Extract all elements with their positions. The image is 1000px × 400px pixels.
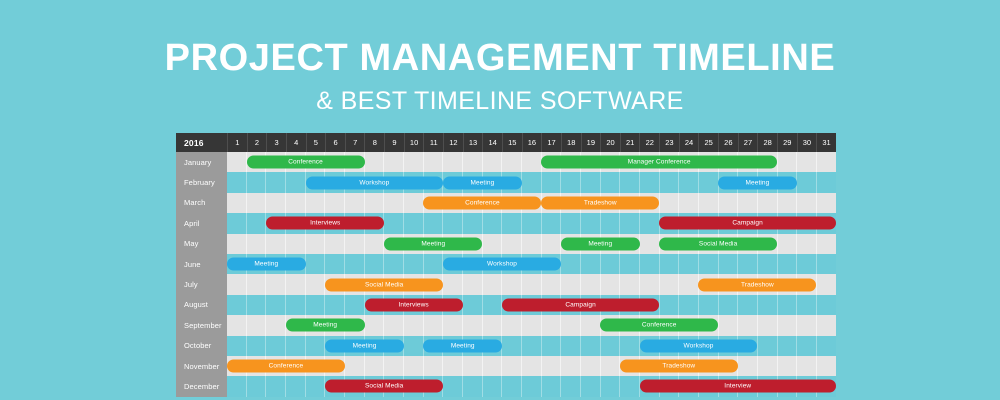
gantt-day-cell[interactable] bbox=[227, 213, 246, 233]
timeline-infographic: PROJECT MANAGEMENT TIMELINE & BEST TIMEL… bbox=[0, 0, 1000, 400]
gantt-day-cell[interactable] bbox=[383, 356, 403, 376]
gantt-day-cell[interactable] bbox=[521, 315, 541, 335]
gantt-day-cell[interactable] bbox=[777, 315, 797, 335]
gantt-bar[interactable]: Meeting bbox=[286, 319, 365, 332]
gantt-day-cell[interactable] bbox=[698, 193, 718, 213]
gantt-day-cell[interactable] bbox=[796, 336, 816, 356]
gantt-day-cell[interactable] bbox=[796, 254, 816, 274]
gantt-day-cell[interactable] bbox=[285, 193, 305, 213]
gantt-bar[interactable]: Conference bbox=[600, 319, 718, 332]
gantt-bar[interactable]: Meeting bbox=[325, 339, 404, 352]
month-label[interactable]: August bbox=[176, 295, 227, 315]
gantt-day-cell[interactable] bbox=[600, 172, 620, 192]
day-header-cell[interactable]: 11 bbox=[423, 133, 443, 152]
gantt-day-cell[interactable] bbox=[757, 193, 777, 213]
gantt-day-cell[interactable] bbox=[403, 336, 423, 356]
gantt-day-cell[interactable] bbox=[227, 234, 246, 254]
gantt-day-cell[interactable] bbox=[521, 172, 541, 192]
month-label[interactable]: October bbox=[176, 336, 227, 356]
gantt-day-cell[interactable] bbox=[580, 336, 600, 356]
month-label[interactable]: January bbox=[176, 152, 227, 172]
gantt-bar[interactable]: Meeting bbox=[384, 237, 482, 250]
gantt-day-cell[interactable] bbox=[423, 356, 443, 376]
gantt-day-cell[interactable] bbox=[757, 254, 777, 274]
gantt-day-cell[interactable] bbox=[678, 254, 698, 274]
gantt-day-cell[interactable] bbox=[737, 315, 757, 335]
gantt-day-cell[interactable] bbox=[364, 152, 384, 172]
gantt-day-cell[interactable] bbox=[246, 336, 266, 356]
month-label[interactable]: July bbox=[176, 274, 227, 294]
day-header-cell[interactable]: 30 bbox=[797, 133, 817, 152]
gantt-day-cell[interactable] bbox=[246, 213, 266, 233]
month-label[interactable]: April bbox=[176, 213, 227, 233]
gantt-bar[interactable]: Workshop bbox=[640, 339, 758, 352]
gantt-day-cell[interactable] bbox=[246, 172, 266, 192]
gantt-day-cell[interactable] bbox=[796, 172, 816, 192]
gantt-day-cell[interactable] bbox=[324, 193, 344, 213]
gantt-day-cell[interactable] bbox=[560, 356, 580, 376]
gantt-day-cell[interactable] bbox=[678, 172, 698, 192]
gantt-day-cell[interactable] bbox=[482, 234, 502, 254]
gantt-day-cell[interactable] bbox=[246, 376, 266, 396]
month-label[interactable]: June bbox=[176, 254, 227, 274]
gantt-day-cell[interactable] bbox=[285, 376, 305, 396]
gantt-day-cell[interactable] bbox=[639, 213, 659, 233]
day-header-cell[interactable]: 1 bbox=[227, 133, 247, 152]
gantt-day-cell[interactable] bbox=[796, 234, 816, 254]
gantt-day-cell[interactable] bbox=[560, 172, 580, 192]
gantt-day-cell[interactable] bbox=[777, 193, 797, 213]
gantt-bar[interactable]: Tradeshow bbox=[541, 196, 659, 209]
gantt-day-cell[interactable] bbox=[442, 274, 462, 294]
gantt-day-cell[interactable] bbox=[600, 336, 620, 356]
gantt-day-cell[interactable] bbox=[521, 356, 541, 376]
gantt-day-cell[interactable] bbox=[285, 234, 305, 254]
gantt-day-cell[interactable] bbox=[816, 172, 836, 192]
gantt-bar[interactable]: Manager Conference bbox=[541, 156, 777, 169]
day-header-cell[interactable]: 28 bbox=[757, 133, 777, 152]
gantt-bar[interactable]: Interviews bbox=[266, 217, 384, 230]
gantt-day-cell[interactable] bbox=[560, 254, 580, 274]
gantt-day-cell[interactable] bbox=[501, 152, 521, 172]
gantt-day-cell[interactable] bbox=[521, 152, 541, 172]
gantt-day-cell[interactable] bbox=[659, 254, 679, 274]
gantt-day-cell[interactable] bbox=[757, 295, 777, 315]
gantt-day-cell[interactable] bbox=[816, 193, 836, 213]
gantt-day-cell[interactable] bbox=[600, 376, 620, 396]
gantt-day-cell[interactable] bbox=[265, 274, 285, 294]
day-header-cell[interactable]: 6 bbox=[325, 133, 345, 152]
gantt-day-cell[interactable] bbox=[501, 234, 521, 254]
title-block: PROJECT MANAGEMENT TIMELINE & BEST TIMEL… bbox=[0, 36, 1000, 116]
gantt-row: JulySocial MediaTradeshow bbox=[176, 274, 836, 294]
gantt-day-cell[interactable] bbox=[698, 254, 718, 274]
gantt-day-cell[interactable] bbox=[462, 152, 482, 172]
day-header-cell[interactable]: 15 bbox=[502, 133, 522, 152]
day-header-cell[interactable]: 25 bbox=[698, 133, 718, 152]
gantt-day-cell[interactable] bbox=[285, 295, 305, 315]
gantt-header-row: 2016 12345678910111213141516171819202122… bbox=[176, 133, 836, 152]
gantt-bar[interactable]: Meeting bbox=[718, 176, 797, 189]
gantt-day-cell[interactable] bbox=[501, 376, 521, 396]
gantt-day-cell[interactable] bbox=[580, 315, 600, 335]
gantt-track: Social MediaTradeshow bbox=[227, 274, 836, 294]
gantt-day-cell[interactable] bbox=[324, 295, 344, 315]
gantt-day-cell[interactable] bbox=[619, 172, 639, 192]
gantt-bar[interactable]: Campaign bbox=[659, 217, 836, 230]
day-header-cell[interactable]: 8 bbox=[364, 133, 384, 152]
gantt-day-cell[interactable] bbox=[521, 376, 541, 396]
gantt-day-cell[interactable] bbox=[718, 254, 738, 274]
gantt-day-cell[interactable] bbox=[541, 336, 561, 356]
gantt-day-cell[interactable] bbox=[442, 315, 462, 335]
gantt-day-cell[interactable] bbox=[816, 336, 836, 356]
gantt-day-cell[interactable] bbox=[796, 315, 816, 335]
gantt-day-cell[interactable] bbox=[482, 376, 502, 396]
gantt-bar[interactable]: Meeting bbox=[561, 237, 640, 250]
gantt-day-cell[interactable] bbox=[482, 152, 502, 172]
day-header-cell[interactable]: 12 bbox=[443, 133, 463, 152]
gantt-day-cell[interactable] bbox=[403, 315, 423, 335]
gantt-day-cell[interactable] bbox=[246, 193, 266, 213]
gantt-day-cell[interactable] bbox=[364, 315, 384, 335]
gantt-day-cell[interactable] bbox=[698, 172, 718, 192]
gantt-row: NovemberConferenceTradeshow bbox=[176, 356, 836, 376]
day-header-cell[interactable]: 9 bbox=[384, 133, 404, 152]
gantt-day-cell[interactable] bbox=[639, 234, 659, 254]
gantt-bar[interactable]: Interview bbox=[640, 380, 836, 393]
gantt-day-cell[interactable] bbox=[364, 234, 384, 254]
gantt-day-cell[interactable] bbox=[265, 376, 285, 396]
gantt-day-cell[interactable] bbox=[364, 356, 384, 376]
gantt-day-cell[interactable] bbox=[305, 274, 325, 294]
gantt-day-cell[interactable] bbox=[541, 234, 561, 254]
month-label[interactable]: May bbox=[176, 234, 227, 254]
gantt-day-cell[interactable] bbox=[659, 193, 679, 213]
gantt-day-cell[interactable] bbox=[403, 254, 423, 274]
gantt-day-cell[interactable] bbox=[619, 213, 639, 233]
gantt-day-cell[interactable] bbox=[580, 376, 600, 396]
gantt-day-cell[interactable] bbox=[580, 213, 600, 233]
gantt-day-cell[interactable] bbox=[718, 295, 738, 315]
day-header-cell[interactable]: 17 bbox=[541, 133, 561, 152]
gantt-day-cell[interactable] bbox=[305, 295, 325, 315]
gantt-day-cell[interactable] bbox=[423, 152, 443, 172]
month-label[interactable]: February bbox=[176, 172, 227, 192]
day-header-cell[interactable]: 23 bbox=[659, 133, 679, 152]
gantt-day-cell[interactable] bbox=[737, 254, 757, 274]
gantt-bar[interactable]: Meeting bbox=[443, 176, 522, 189]
gantt-day-cell[interactable] bbox=[285, 274, 305, 294]
gantt-day-cell[interactable] bbox=[718, 315, 738, 335]
gantt-day-cell[interactable] bbox=[580, 274, 600, 294]
gantt-day-cell[interactable] bbox=[403, 193, 423, 213]
gantt-day-cell[interactable] bbox=[737, 193, 757, 213]
gantt-day-cell[interactable] bbox=[305, 234, 325, 254]
gantt-day-cell[interactable] bbox=[541, 172, 561, 192]
gantt-day-cell[interactable] bbox=[462, 315, 482, 335]
gantt-day-cell[interactable] bbox=[541, 356, 561, 376]
gantt-bar[interactable]: Workshop bbox=[306, 176, 444, 189]
month-label[interactable]: September bbox=[176, 315, 227, 335]
gantt-day-cell[interactable] bbox=[227, 295, 246, 315]
gantt-day-cell[interactable] bbox=[482, 356, 502, 376]
day-header-cell[interactable]: 22 bbox=[639, 133, 659, 152]
gantt-row: MayMeetingMeetingSocial Media bbox=[176, 234, 836, 254]
day-header-cell[interactable]: 14 bbox=[482, 133, 502, 152]
gantt-day-cell[interactable] bbox=[227, 315, 246, 335]
gantt-day-cell[interactable] bbox=[482, 274, 502, 294]
gantt-day-cell[interactable] bbox=[265, 234, 285, 254]
gantt-day-cell[interactable] bbox=[344, 234, 364, 254]
gantt-day-cell[interactable] bbox=[541, 274, 561, 294]
gantt-day-cell[interactable] bbox=[560, 315, 580, 335]
day-header-cell[interactable]: 4 bbox=[286, 133, 306, 152]
day-header-cell[interactable]: 2 bbox=[247, 133, 267, 152]
gantt-day-cell[interactable] bbox=[639, 274, 659, 294]
gantt-day-cell[interactable] bbox=[796, 295, 816, 315]
gantt-row: SeptemberMeetingConference bbox=[176, 315, 836, 335]
gantt-day-cell[interactable] bbox=[600, 213, 620, 233]
gantt-day-cell[interactable] bbox=[482, 295, 502, 315]
gantt-day-cell[interactable] bbox=[501, 213, 521, 233]
gantt-day-cell[interactable] bbox=[816, 315, 836, 335]
gantt-day-cell[interactable] bbox=[501, 274, 521, 294]
gantt-day-cell[interactable] bbox=[403, 356, 423, 376]
gantt-day-cell[interactable] bbox=[344, 254, 364, 274]
day-header-cell[interactable]: 24 bbox=[679, 133, 699, 152]
gantt-day-cell[interactable] bbox=[619, 336, 639, 356]
gantt-bar[interactable]: Conference bbox=[247, 156, 365, 169]
gantt-day-cell[interactable] bbox=[383, 213, 403, 233]
gantt-day-cell[interactable] bbox=[600, 274, 620, 294]
gantt-day-cell[interactable] bbox=[403, 213, 423, 233]
gantt-day-cell[interactable] bbox=[462, 376, 482, 396]
gantt-row: DecemberSocial MediaInterview bbox=[176, 376, 836, 396]
gantt-day-cell[interactable] bbox=[777, 356, 797, 376]
gantt-row: AugustInterviewsCampaign bbox=[176, 295, 836, 315]
gantt-bar[interactable]: Social Media bbox=[325, 380, 443, 393]
gantt-day-cell[interactable] bbox=[659, 172, 679, 192]
gantt-day-cell[interactable] bbox=[423, 254, 443, 274]
month-label[interactable]: March bbox=[176, 193, 227, 213]
page-title: PROJECT MANAGEMENT TIMELINE bbox=[0, 36, 1000, 80]
day-header-cell[interactable]: 20 bbox=[600, 133, 620, 152]
day-header-cell[interactable]: 29 bbox=[777, 133, 797, 152]
gantt-day-cell[interactable] bbox=[364, 193, 384, 213]
gantt-day-cell[interactable] bbox=[757, 356, 777, 376]
gantt-day-cell[interactable] bbox=[737, 356, 757, 376]
day-header-cell[interactable]: 21 bbox=[620, 133, 640, 152]
gantt-day-cell[interactable] bbox=[285, 336, 305, 356]
gantt-bar[interactable]: Conference bbox=[227, 360, 345, 373]
gantt-day-cell[interactable] bbox=[265, 295, 285, 315]
day-header-cell[interactable]: 31 bbox=[816, 133, 836, 152]
gantt-track: ConferenceTradeshow bbox=[227, 193, 836, 213]
gantt-day-cell[interactable] bbox=[777, 234, 797, 254]
gantt-day-cell[interactable] bbox=[757, 336, 777, 356]
day-header-cell[interactable]: 26 bbox=[718, 133, 738, 152]
gantt-day-cell[interactable] bbox=[462, 356, 482, 376]
month-label[interactable]: November bbox=[176, 356, 227, 376]
gantt-day-cell[interactable] bbox=[777, 254, 797, 274]
gantt-day-cell[interactable] bbox=[227, 376, 246, 396]
gantt-day-cell[interactable] bbox=[462, 213, 482, 233]
gantt-bar[interactable]: Social Media bbox=[325, 278, 443, 291]
gantt-day-cell[interactable] bbox=[619, 376, 639, 396]
gantt-day-cell[interactable] bbox=[580, 172, 600, 192]
gantt-day-cell[interactable] bbox=[423, 315, 443, 335]
gantt-day-cell[interactable] bbox=[482, 213, 502, 233]
day-header-cell[interactable]: 16 bbox=[522, 133, 542, 152]
gantt-day-cell[interactable] bbox=[521, 336, 541, 356]
gantt-day-cell[interactable] bbox=[560, 376, 580, 396]
gantt-day-cell[interactable] bbox=[344, 356, 364, 376]
day-header-cell[interactable]: 10 bbox=[404, 133, 424, 152]
gantt-day-cell[interactable] bbox=[816, 152, 836, 172]
gantt-day-cell[interactable] bbox=[383, 193, 403, 213]
gantt-track: Social MediaInterview bbox=[227, 376, 836, 396]
month-label[interactable]: December bbox=[176, 376, 227, 396]
gantt-day-cell[interactable] bbox=[265, 172, 285, 192]
gantt-day-cell[interactable] bbox=[757, 315, 777, 335]
day-number-header: 1234567891011121314151617181920212223242… bbox=[227, 133, 836, 152]
gantt-day-cell[interactable] bbox=[678, 193, 698, 213]
gantt-bar[interactable]: Meeting bbox=[423, 339, 502, 352]
gantt-bar[interactable]: Workshop bbox=[443, 258, 561, 271]
gantt-day-cell[interactable] bbox=[305, 193, 325, 213]
gantt-day-cell[interactable] bbox=[619, 274, 639, 294]
gantt-day-cell[interactable] bbox=[423, 213, 443, 233]
day-header-cell[interactable]: 7 bbox=[345, 133, 365, 152]
gantt-day-cell[interactable] bbox=[678, 295, 698, 315]
gantt-day-cell[interactable] bbox=[227, 274, 246, 294]
gantt-day-cell[interactable] bbox=[383, 315, 403, 335]
gantt-day-cell[interactable] bbox=[462, 295, 482, 315]
gantt-day-cell[interactable] bbox=[521, 213, 541, 233]
gantt-day-cell[interactable] bbox=[364, 254, 384, 274]
gantt-day-cell[interactable] bbox=[560, 274, 580, 294]
gantt-day-cell[interactable] bbox=[324, 254, 344, 274]
gantt-day-cell[interactable] bbox=[580, 356, 600, 376]
gantt-bar[interactable]: Interviews bbox=[365, 298, 463, 311]
gantt-bar[interactable]: Tradeshow bbox=[620, 360, 738, 373]
gantt-day-cell[interactable] bbox=[777, 336, 797, 356]
gantt-day-cell[interactable] bbox=[816, 356, 836, 376]
gantt-row: JanuaryConferenceManager Conference bbox=[176, 152, 836, 172]
gantt-day-cell[interactable] bbox=[541, 376, 561, 396]
day-header-cell[interactable]: 18 bbox=[561, 133, 581, 152]
gantt-bar[interactable]: Campaign bbox=[502, 298, 659, 311]
gantt-day-cell[interactable] bbox=[718, 193, 738, 213]
gantt-day-cell[interactable] bbox=[462, 274, 482, 294]
gantt-day-cell[interactable] bbox=[796, 356, 816, 376]
gantt-day-cell[interactable] bbox=[639, 254, 659, 274]
gantt-track: MeetingMeetingSocial Media bbox=[227, 234, 836, 254]
gantt-day-cell[interactable] bbox=[796, 193, 816, 213]
gantt-day-cell[interactable] bbox=[442, 376, 462, 396]
gantt-bar[interactable]: Social Media bbox=[659, 237, 777, 250]
gantt-day-cell[interactable] bbox=[521, 234, 541, 254]
gantt-day-cell[interactable] bbox=[501, 315, 521, 335]
gantt-chart: 2016 12345678910111213141516171819202122… bbox=[176, 133, 836, 397]
day-header-cell[interactable]: 13 bbox=[463, 133, 483, 152]
gantt-day-cell[interactable] bbox=[383, 254, 403, 274]
gantt-day-cell[interactable] bbox=[246, 295, 266, 315]
gantt-day-cell[interactable] bbox=[246, 234, 266, 254]
gantt-day-cell[interactable] bbox=[560, 213, 580, 233]
gantt-day-cell[interactable] bbox=[403, 152, 423, 172]
gantt-bar[interactable]: Conference bbox=[423, 196, 541, 209]
gantt-day-cell[interactable] bbox=[442, 152, 462, 172]
gantt-day-cell[interactable] bbox=[227, 193, 246, 213]
year-label: 2016 bbox=[176, 133, 227, 152]
gantt-day-cell[interactable] bbox=[659, 295, 679, 315]
day-header-cell[interactable]: 19 bbox=[581, 133, 601, 152]
gantt-day-cell[interactable] bbox=[285, 172, 305, 192]
gantt-day-cell[interactable] bbox=[265, 336, 285, 356]
gantt-day-cell[interactable] bbox=[541, 315, 561, 335]
gantt-bar[interactable]: Meeting bbox=[227, 258, 306, 271]
gantt-day-cell[interactable] bbox=[639, 172, 659, 192]
gantt-day-cell[interactable] bbox=[777, 152, 797, 172]
gantt-day-cell[interactable] bbox=[600, 356, 620, 376]
gantt-day-cell[interactable] bbox=[482, 315, 502, 335]
gantt-day-cell[interactable] bbox=[816, 295, 836, 315]
gantt-day-cell[interactable] bbox=[265, 315, 285, 335]
gantt-day-cell[interactable] bbox=[246, 274, 266, 294]
gantt-day-cell[interactable] bbox=[737, 295, 757, 315]
gantt-day-cell[interactable] bbox=[619, 254, 639, 274]
gantt-day-cell[interactable] bbox=[305, 254, 325, 274]
gantt-day-cell[interactable] bbox=[265, 193, 285, 213]
gantt-day-cell[interactable] bbox=[816, 254, 836, 274]
gantt-day-cell[interactable] bbox=[344, 295, 364, 315]
day-header-cell[interactable]: 3 bbox=[266, 133, 286, 152]
gantt-day-cell[interactable] bbox=[227, 336, 246, 356]
gantt-day-cell[interactable] bbox=[816, 274, 836, 294]
gantt-track: WorkshopMeetingMeeting bbox=[227, 172, 836, 192]
gantt-day-cell[interactable] bbox=[344, 193, 364, 213]
gantt-day-cell[interactable] bbox=[246, 315, 266, 335]
gantt-day-cell[interactable] bbox=[442, 356, 462, 376]
gantt-day-cell[interactable] bbox=[816, 234, 836, 254]
gantt-day-cell[interactable] bbox=[305, 376, 325, 396]
gantt-day-cell[interactable] bbox=[796, 152, 816, 172]
gantt-day-cell[interactable] bbox=[227, 152, 246, 172]
gantt-day-cell[interactable] bbox=[678, 274, 698, 294]
gantt-day-cell[interactable] bbox=[777, 295, 797, 315]
gantt-day-cell[interactable] bbox=[521, 274, 541, 294]
day-header-cell[interactable]: 5 bbox=[306, 133, 326, 152]
gantt-day-cell[interactable] bbox=[227, 172, 246, 192]
gantt-day-cell[interactable] bbox=[442, 213, 462, 233]
gantt-bar[interactable]: Tradeshow bbox=[698, 278, 816, 291]
gantt-day-cell[interactable] bbox=[383, 152, 403, 172]
gantt-day-cell[interactable] bbox=[659, 274, 679, 294]
gantt-day-cell[interactable] bbox=[324, 234, 344, 254]
gantt-day-cell[interactable] bbox=[501, 356, 521, 376]
gantt-day-cell[interactable] bbox=[600, 254, 620, 274]
gantt-day-cell[interactable] bbox=[305, 336, 325, 356]
gantt-day-cell[interactable] bbox=[501, 336, 521, 356]
gantt-day-cell[interactable] bbox=[541, 213, 561, 233]
day-header-cell[interactable]: 27 bbox=[738, 133, 758, 152]
gantt-day-cell[interactable] bbox=[698, 295, 718, 315]
gantt-day-cell[interactable] bbox=[560, 336, 580, 356]
gantt-track: MeetingConference bbox=[227, 315, 836, 335]
gantt-day-cell[interactable] bbox=[580, 254, 600, 274]
